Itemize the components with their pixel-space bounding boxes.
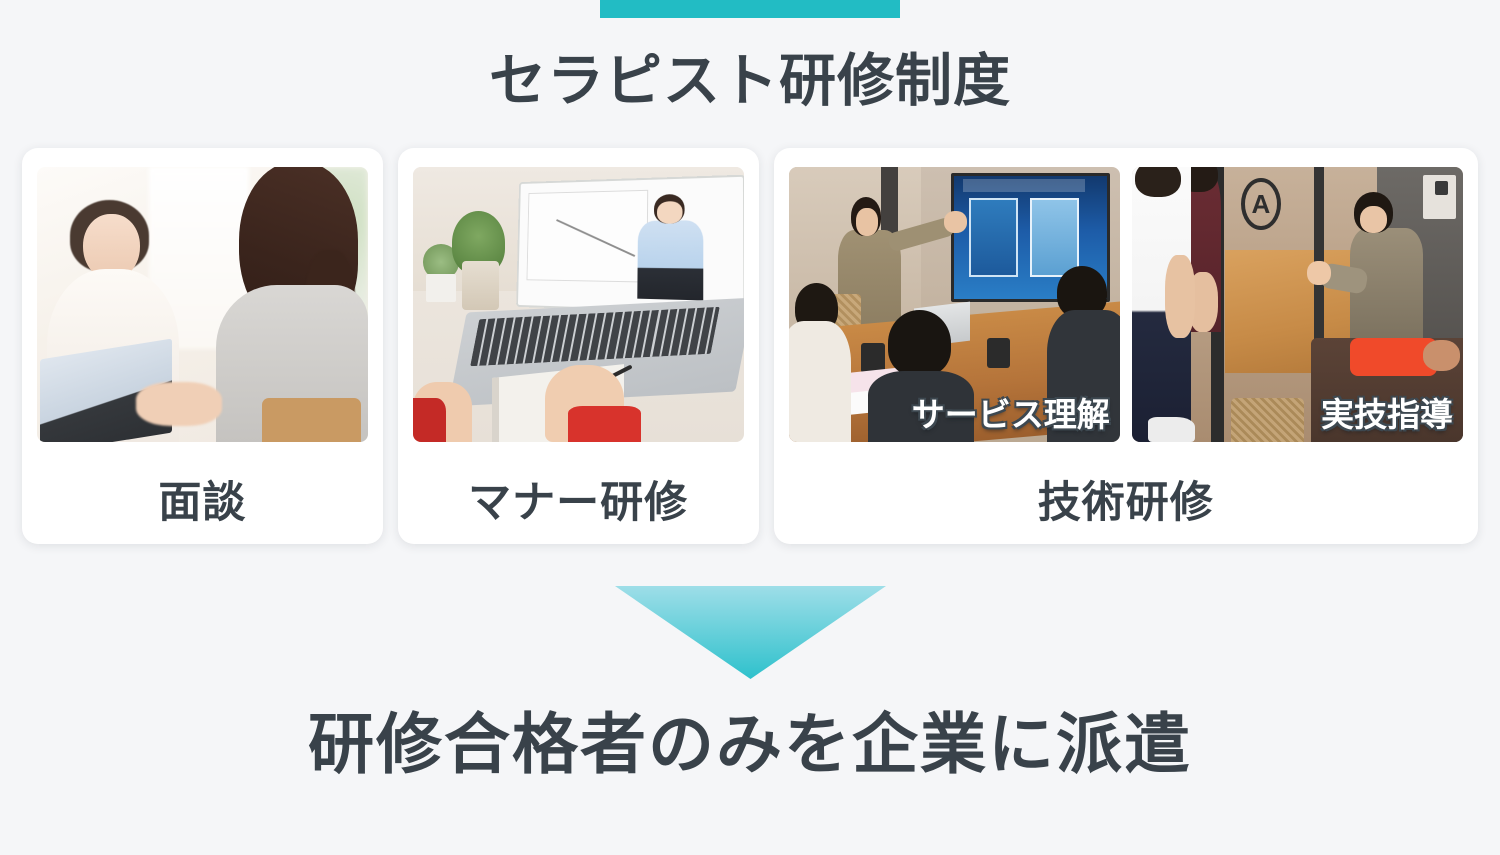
photo-interview-two-women: [37, 167, 368, 442]
card-media: サービス理解 A: [789, 167, 1463, 442]
footer-heading: 研修合格者のみを企業に派遣: [0, 708, 1500, 781]
training-system-infographic: セラピスト研修制度 面談: [0, 0, 1500, 855]
room-sign-a-icon: A: [1241, 178, 1281, 230]
page-title: セラピスト研修制度: [0, 50, 1500, 113]
photo-practical-instruction: A 実技指導: [1132, 167, 1463, 442]
card-label: 面談: [158, 482, 246, 525]
training-card-technical[interactable]: サービス理解 A: [774, 148, 1478, 544]
training-card-interview[interactable]: 面談: [22, 148, 383, 544]
triangle-down-icon: [615, 586, 886, 679]
photo-online-lecture-laptop: [413, 167, 744, 442]
card-media: [413, 167, 744, 442]
top-accent-bar: [600, 0, 900, 18]
training-card-manner[interactable]: マナー研修: [398, 148, 759, 544]
photo-overlay-label-practical: 実技指導: [1321, 388, 1453, 436]
photo-meeting-room-presentation: サービス理解: [789, 167, 1120, 442]
card-label: マナー研修: [468, 482, 688, 525]
arrow-down-container: [615, 586, 886, 679]
card-label: 技術研修: [1038, 482, 1214, 525]
training-cards-row: 面談: [22, 148, 1478, 544]
photo-overlay-label-service: サービス理解: [912, 388, 1110, 436]
card-media: [37, 167, 368, 442]
